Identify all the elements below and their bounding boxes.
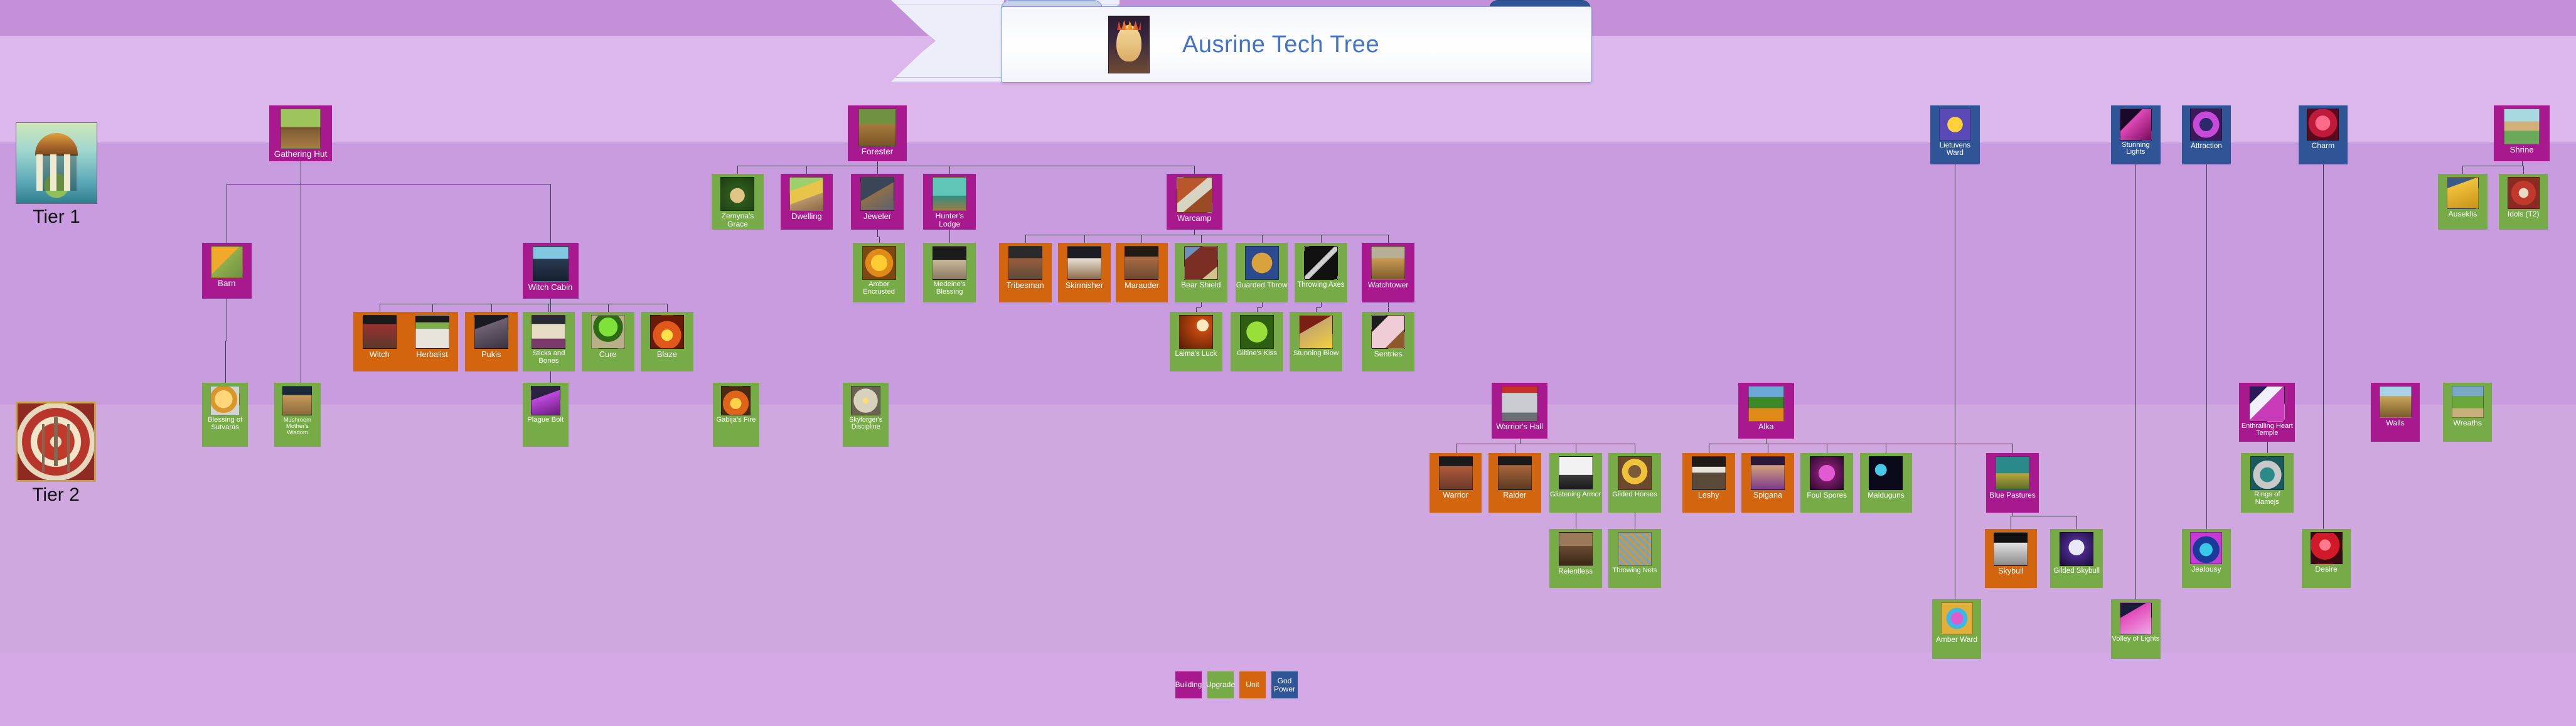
cauldron-icon	[591, 315, 625, 349]
heart-crystal-icon	[2249, 386, 2285, 422]
tech-node-attraction-gp[interactable]: Attraction	[2182, 105, 2231, 164]
tech-node-marauder[interactable]: Marauder	[1116, 243, 1168, 302]
connector-line	[608, 304, 609, 312]
tech-node-auseklis[interactable]: Auseklis	[2438, 174, 2488, 230]
shield-icon	[1177, 177, 1212, 213]
legend-label: Building	[1175, 681, 1202, 689]
skybull-icon	[1994, 532, 2028, 566]
connector-line	[877, 161, 878, 166]
tech-node-label: Rings of Namejs	[2241, 490, 2294, 506]
tech-node-label: Alka	[1758, 422, 1775, 431]
connector-line	[1196, 307, 1197, 312]
legend-label: Unit	[1246, 681, 1259, 689]
tech-node-sentries[interactable]: Sentries	[1362, 312, 1414, 371]
bow-arrow-icon	[933, 177, 966, 211]
tech-node-label: Laima's Luck	[1175, 349, 1218, 358]
tech-node-label: Witch Cabin	[528, 282, 574, 292]
connector-line	[1576, 513, 1576, 521]
gilded-skybull-icon	[2060, 532, 2093, 566]
connector-line	[1025, 235, 1026, 243]
tech-node-label: Glistening Armor	[1549, 490, 1601, 499]
tech-node-label: Gilded Horses	[1611, 490, 1658, 499]
tech-node-sticks-and-bones[interactable]: Sticks and Bones	[523, 312, 575, 371]
connector-line	[2011, 516, 2011, 529]
axe-stump-icon	[858, 109, 896, 146]
connector-line	[1194, 166, 1195, 174]
tech-node-dwelling[interactable]: Dwelling	[781, 174, 833, 230]
connector-line	[1576, 444, 1576, 454]
tech-node-label: Bear Shield	[1180, 280, 1222, 289]
tech-node-shrine[interactable]: Shrine	[2494, 105, 2550, 161]
tech-node-gilded-skybull[interactable]: Gilded Skybull	[2050, 529, 2103, 588]
connector-line	[667, 304, 668, 312]
title-banner: Ausrine Tech Tree	[891, 0, 1701, 94]
legend-swatch-upgrade: Upgrade	[1207, 671, 1234, 698]
tech-node-materess-blessing[interactable]: Medeine's Blessing	[923, 243, 976, 302]
berry-basket-icon	[281, 109, 321, 149]
connector-line	[432, 304, 433, 312]
witch-cabin-icon	[533, 246, 569, 282]
tech-node-label: Tribesman	[1006, 280, 1045, 289]
tech-node-blue-pastures[interactable]: Blue Pastures	[1986, 453, 2039, 512]
ribbon-tail-left-icon	[891, 0, 1004, 82]
tech-node-label: Volley of Lights	[2111, 634, 2160, 643]
blue-deer-icon	[1996, 456, 2029, 490]
spear-strike-icon	[1179, 315, 1213, 349]
connector-line	[877, 230, 878, 236]
tech-node-label: Foul Spores	[1806, 490, 1847, 499]
tech-node-foul-spores[interactable]: Foul Spores	[1800, 453, 1853, 512]
connector-line	[877, 166, 878, 174]
connector-line	[1196, 307, 1201, 308]
tech-node-label: Blaze	[656, 349, 678, 358]
acorn-icon	[720, 177, 754, 211]
tech-node-amber-encrusted[interactable]: Amber Encrusted	[853, 243, 906, 302]
helmet-icon	[1502, 386, 1537, 422]
connector-line	[380, 304, 380, 312]
tech-node-hunters-lodge[interactable]: Hunter's Lodge	[923, 174, 976, 230]
connector-line	[1257, 307, 1258, 312]
tech-node-jeweler[interactable]: Jeweler	[851, 174, 904, 230]
leshy-icon	[1692, 456, 1726, 490]
raider-icon	[1498, 456, 1532, 490]
wreath-icon	[2452, 386, 2484, 418]
connector-line	[1316, 307, 1321, 308]
tech-node-label: Wreaths	[2452, 418, 2482, 427]
ausrine-portrait-icon	[1108, 16, 1150, 73]
tech-node-skybull[interactable]: Skybull	[1985, 529, 2038, 588]
connector-line	[548, 304, 549, 312]
tech-node-label: Forester	[861, 146, 894, 156]
tech-node-forester[interactable]: Forester	[848, 105, 907, 161]
ruby-icon	[2311, 532, 2343, 564]
amber-gem-icon	[862, 246, 896, 280]
tech-node-label: Skybull	[1997, 566, 2024, 575]
connector-line	[1025, 235, 1389, 235]
connector-line	[227, 184, 550, 184]
tech-node-rings-of-namejs[interactable]: Rings of Namejs	[2241, 453, 2294, 512]
tech-node-label: Warcamp	[1177, 213, 1212, 222]
tech-node-blessing-of-sutvaras[interactable]: Blessing of Sutvaras	[202, 383, 248, 447]
tech-node-alka[interactable]: Alka	[1738, 383, 1794, 439]
crossed-axes-icon	[1304, 246, 1338, 280]
tech-node-giltines-kiss[interactable]: Giltine's Kiss	[1231, 312, 1283, 371]
tech-node-label: Zemyna's Grace	[712, 211, 764, 228]
tech-node-label: Idols (T2)	[2507, 209, 2540, 218]
connector-line	[1635, 521, 1635, 529]
legend-label: God Power	[1271, 677, 1298, 693]
connector-line	[2323, 164, 2324, 529]
connector-line	[2135, 164, 2136, 600]
tech-node-label: Sentries	[1374, 349, 1403, 358]
tech-node-throwing-axes[interactable]: Throwing Axes	[1295, 243, 1347, 302]
bear-shield-icon	[1184, 246, 1218, 280]
tech-node-label: Charm	[2311, 141, 2335, 150]
connector-line	[1709, 444, 2012, 444]
tech-node-walls[interactable]: Walls	[2371, 383, 2420, 442]
connector-line	[1388, 302, 1389, 307]
tech-node-warriors-hall[interactable]: Warrior's Hall	[1492, 383, 1547, 439]
pickaxe-icon	[860, 177, 894, 211]
watchtower-icon	[1371, 246, 1405, 280]
tier-2-badge: Tier 2	[16, 402, 96, 506]
tech-node-guarded-throw[interactable]: Guarded Throw	[1236, 243, 1288, 302]
connector-line	[2206, 164, 2207, 529]
connector-line	[1262, 302, 1263, 307]
tech-node-amber-ward[interactable]: Amber Ward	[1932, 599, 1982, 658]
tech-node-blaze[interactable]: Blaze	[641, 312, 693, 371]
rings-icon	[2250, 456, 2284, 490]
shrine-building-icon	[16, 122, 97, 204]
tech-node-label: Throwing Nets	[1611, 566, 1657, 575]
tech-node-laimas-luck[interactable]: Laima's Luck	[1170, 312, 1222, 371]
vortex-icon	[2190, 109, 2222, 141]
tech-node-label: Enthralling Heart Temple	[2239, 422, 2295, 437]
connector-line	[737, 166, 738, 174]
chainmail-icon	[1559, 456, 1593, 490]
connector-line	[1388, 235, 1389, 243]
tech-node-label: Witch	[369, 349, 390, 358]
tech-node-label: Barn	[217, 278, 237, 288]
tech-node-cure[interactable]: Cure	[582, 312, 634, 371]
tech-node-leshy[interactable]: Leshy	[1682, 453, 1735, 512]
tech-node-gabijas-fire[interactable]: Gabija's Fire	[713, 383, 759, 447]
net-icon	[1618, 532, 1652, 566]
volley-icon	[2120, 602, 2152, 634]
tech-node-jealousy[interactable]: Jealousy	[2182, 529, 2231, 588]
tech-node-label: Raider	[1502, 490, 1527, 499]
connector-line	[1201, 302, 1202, 307]
tech-node-wreaths[interactable]: Wreaths	[2443, 383, 2493, 442]
tech-node-label: Amber Encrusted	[853, 280, 906, 296]
connector-line	[1084, 235, 1085, 243]
starburst-icon	[1939, 109, 1971, 141]
connector-line	[949, 166, 950, 174]
tech-node-label: Guarded Throw	[1236, 280, 1288, 289]
tech-node-label: Amber Ward	[1935, 634, 1978, 643]
tech-tree-canvas: Ausrine Tech Tree Tier 1 Tier 2 Gatherin…	[0, 0, 2576, 726]
plague-bolt-icon	[531, 386, 560, 415]
tech-node-label: Desire	[2314, 564, 2338, 574]
connector-line	[1456, 444, 1456, 454]
tech-node-label: Medeine's Blessing	[923, 280, 976, 296]
shrine-icon	[2504, 109, 2540, 144]
tech-node-skirmisher[interactable]: Skirmisher	[1058, 243, 1111, 302]
tech-node-raider[interactable]: Raider	[1488, 453, 1541, 512]
tech-node-herbalist[interactable]: Herbalist	[406, 312, 459, 371]
comet-icon	[2120, 109, 2152, 141]
tech-node-witch-cabin[interactable]: Witch Cabin	[523, 243, 579, 299]
connector-line	[2011, 516, 2076, 516]
tech-node-label: Mushroom Mother's Wisdom	[274, 415, 320, 435]
horseshoe-icon	[1618, 456, 1652, 490]
jealousy-icon	[2190, 532, 2222, 564]
connector-line	[949, 230, 950, 236]
connector-line	[1635, 444, 1635, 454]
connector-line	[1766, 439, 1766, 444]
connector-line	[1321, 302, 1322, 307]
connector-line	[1194, 230, 1195, 235]
tech-node-label: Shrine	[2509, 144, 2535, 154]
pukis-dragon-icon	[474, 315, 508, 349]
idol-building-icon	[16, 402, 96, 482]
tech-node-throwing-nets[interactable]: Throwing Nets	[1608, 529, 1661, 588]
blaze-icon	[650, 315, 684, 349]
marauder-icon	[1125, 246, 1158, 280]
connector-line	[1515, 444, 1515, 454]
connector-line	[2522, 161, 2523, 166]
antlers-icon	[933, 246, 966, 280]
connector-line	[1201, 235, 1202, 243]
tech-node-label: Spigana	[1753, 490, 1783, 499]
connector-line	[380, 304, 667, 304]
palisade-icon	[2380, 386, 2412, 418]
connector-line	[1456, 444, 1635, 444]
tech-node-label: Jealousy	[2191, 564, 2221, 574]
tech-node-skyforgers-discipline[interactable]: Skyforger's Discipline	[843, 383, 889, 447]
tech-node-idols-t2[interactable]: Idols (T2)	[2499, 174, 2548, 230]
legend-swatch-unit: Unit	[1239, 671, 1266, 698]
tech-node-label: Pukis	[481, 349, 501, 358]
connector-line	[1635, 513, 1635, 521]
connector-line	[301, 161, 301, 383]
connector-line	[1141, 235, 1142, 243]
legend: BuildingUpgradeUnitGod Power	[1175, 671, 1298, 698]
tech-node-label: Dwelling	[791, 211, 822, 220]
connector-line	[806, 166, 807, 174]
connector-line	[1520, 439, 1520, 444]
connector-line	[1262, 235, 1263, 243]
tech-node-enthralling-heart[interactable]: Enthralling Heart Temple	[2239, 383, 2295, 442]
tech-node-witch[interactable]: Witch	[353, 312, 406, 371]
tech-node-label: Hunter's Lodge	[923, 211, 976, 228]
tech-node-label: Warrior's Hall	[1495, 422, 1544, 431]
tech-node-label: Sticks and Bones	[523, 349, 575, 365]
skirmisher-icon	[1067, 246, 1101, 280]
connector-line	[1709, 444, 1709, 454]
stone-face-icon	[1559, 532, 1593, 566]
tier-1-badge: Tier 1	[16, 122, 97, 228]
house-icon	[789, 177, 823, 211]
shield-emblem-icon	[851, 386, 880, 415]
tech-node-label: Giltine's Kiss	[1236, 349, 1278, 358]
legend-label: Upgrade	[1206, 681, 1235, 689]
connector-line	[550, 184, 551, 243]
golden-ring-icon	[210, 386, 240, 415]
page-title: Ausrine Tech Tree	[1182, 31, 1379, 58]
tech-node-spigana[interactable]: Spigana	[1741, 453, 1794, 512]
tech-node-label: Auseklis	[2447, 209, 2477, 218]
legend-swatch-building: Building	[1175, 671, 1202, 698]
connector-line	[2462, 166, 2463, 174]
tech-node-label: Relentless	[1558, 566, 1593, 575]
tech-node-watchtower[interactable]: Watchtower	[1362, 243, 1414, 302]
tech-node-label: Cure	[599, 349, 617, 358]
mushrooms-icon	[282, 386, 312, 415]
tech-node-label: Gathering Hut	[274, 149, 328, 159]
tech-node-label: Herbalist	[415, 349, 449, 358]
witch-icon	[363, 315, 397, 349]
tech-node-label: Watchtower	[1367, 280, 1409, 289]
tech-node-stunning-lights-gp[interactable]: Stunning Lights	[2111, 105, 2161, 164]
tech-node-label: Stunning Blow	[1293, 349, 1339, 358]
connector-line	[1768, 444, 1768, 454]
tech-node-malduguns[interactable]: Malduguns	[1860, 453, 1913, 512]
tech-node-tribesman[interactable]: Tribesman	[999, 243, 1052, 302]
tech-node-zemynas-grace[interactable]: Zemyna's Grace	[712, 174, 764, 230]
connector-line	[1321, 235, 1322, 243]
tech-node-gathering-hut[interactable]: Gathering Hut	[269, 105, 331, 161]
tech-node-label: Attraction	[2190, 141, 2223, 149]
connector-line	[1886, 444, 1886, 454]
tech-node-label: Blessing of Sutvaras	[202, 415, 248, 432]
tech-node-label: Jeweler	[863, 211, 892, 220]
feather-arrow-icon	[1371, 315, 1405, 349]
tier-1-label: Tier 1	[16, 206, 97, 228]
tech-node-label: Throwing Axes	[1296, 280, 1345, 289]
tech-node-relentless[interactable]: Relentless	[1549, 529, 1602, 588]
tech-node-label: Leshy	[1697, 490, 1720, 499]
warrior-icon	[1439, 456, 1473, 490]
idol-icon	[2508, 177, 2540, 209]
tech-node-pukis[interactable]: Pukis	[465, 312, 518, 371]
tech-node-warcamp[interactable]: Warcamp	[1167, 174, 1222, 230]
rune-amulet-icon	[1245, 246, 1279, 280]
connector-line	[227, 184, 227, 243]
tech-node-mushroom-mothers[interactable]: Mushroom Mother's Wisdom	[274, 383, 320, 447]
tribesman-icon	[1008, 246, 1042, 280]
spores-icon	[1810, 456, 1844, 490]
tech-node-label: Plague Bolt	[526, 415, 564, 424]
tech-node-label: Walls	[2385, 418, 2405, 427]
connector-line	[2267, 447, 2268, 453]
connector-line	[879, 237, 880, 243]
tech-node-desire[interactable]: Desire	[2302, 529, 2351, 588]
connector-line	[2012, 444, 2013, 454]
connector-line	[1388, 307, 1389, 312]
tech-node-warrior[interactable]: Warrior	[1430, 453, 1482, 512]
connector-line	[2267, 442, 2268, 447]
tech-node-stunning-blow[interactable]: Stunning Blow	[1290, 312, 1342, 371]
connector-line	[227, 299, 227, 341]
connector-line	[491, 304, 492, 312]
tech-node-label: Skirmisher	[1065, 280, 1104, 289]
connector-line	[1257, 307, 1262, 308]
connector-line	[1316, 307, 1317, 312]
connector-line	[225, 341, 226, 383]
herbalist-icon	[415, 315, 449, 349]
tech-node-label: Skyforger's Discipline	[843, 415, 889, 430]
tech-node-barn[interactable]: Barn	[202, 243, 252, 299]
tech-node-label: Gilded Skybull	[2053, 566, 2100, 575]
skull-potion-icon	[532, 315, 565, 349]
tech-node-label: Marauder	[1124, 280, 1160, 289]
heart-icon	[2307, 109, 2339, 141]
sacred-tree-icon	[1748, 386, 1784, 422]
poison-blade-icon	[1240, 315, 1274, 349]
legend-swatch-god: God Power	[1271, 671, 1298, 698]
tech-node-plague-bolt[interactable]: Plague Bolt	[523, 383, 569, 447]
connector-line	[1827, 444, 1827, 454]
tech-node-charm-gp[interactable]: Charm	[2299, 105, 2348, 164]
tech-node-label: Lietuvens Ward	[1930, 141, 1980, 157]
wisps-icon	[1869, 456, 1903, 490]
title-card: Ausrine Tech Tree	[1001, 6, 1592, 83]
tech-node-label: Malduguns	[1867, 490, 1905, 499]
amulet-icon	[2447, 177, 2479, 209]
connector-line	[2462, 166, 2523, 166]
connector-line	[1576, 521, 1576, 529]
tech-node-label: Warrior	[1442, 490, 1469, 499]
connector-line	[949, 237, 950, 243]
connector-line	[2523, 166, 2524, 174]
amber-ward-icon	[1941, 602, 1973, 634]
tech-node-label: Stunning Lights	[2111, 141, 2161, 157]
tech-node-lietuvens-ward-gp[interactable]: Lietuvens Ward	[1930, 105, 1980, 164]
connector-line	[1955, 164, 1955, 600]
club-stars-icon	[1299, 315, 1333, 349]
tech-node-gilded-horses[interactable]: Gilded Horses	[1608, 453, 1661, 512]
tech-node-volley-of-lights[interactable]: Volley of Lights	[2111, 599, 2161, 658]
spigana-icon	[1751, 456, 1785, 490]
tier-2-label: Tier 2	[16, 484, 96, 506]
fire-icon	[721, 386, 751, 415]
tech-node-glistening-armor[interactable]: Glistening Armor	[1549, 453, 1602, 512]
barn-icon	[211, 246, 243, 278]
tech-node-label: Blue Pastures	[1989, 490, 2036, 499]
tech-node-bear-shield[interactable]: Bear Shield	[1175, 243, 1227, 302]
connector-line	[2076, 516, 2077, 529]
tech-node-label: Gabija's Fire	[715, 415, 756, 424]
